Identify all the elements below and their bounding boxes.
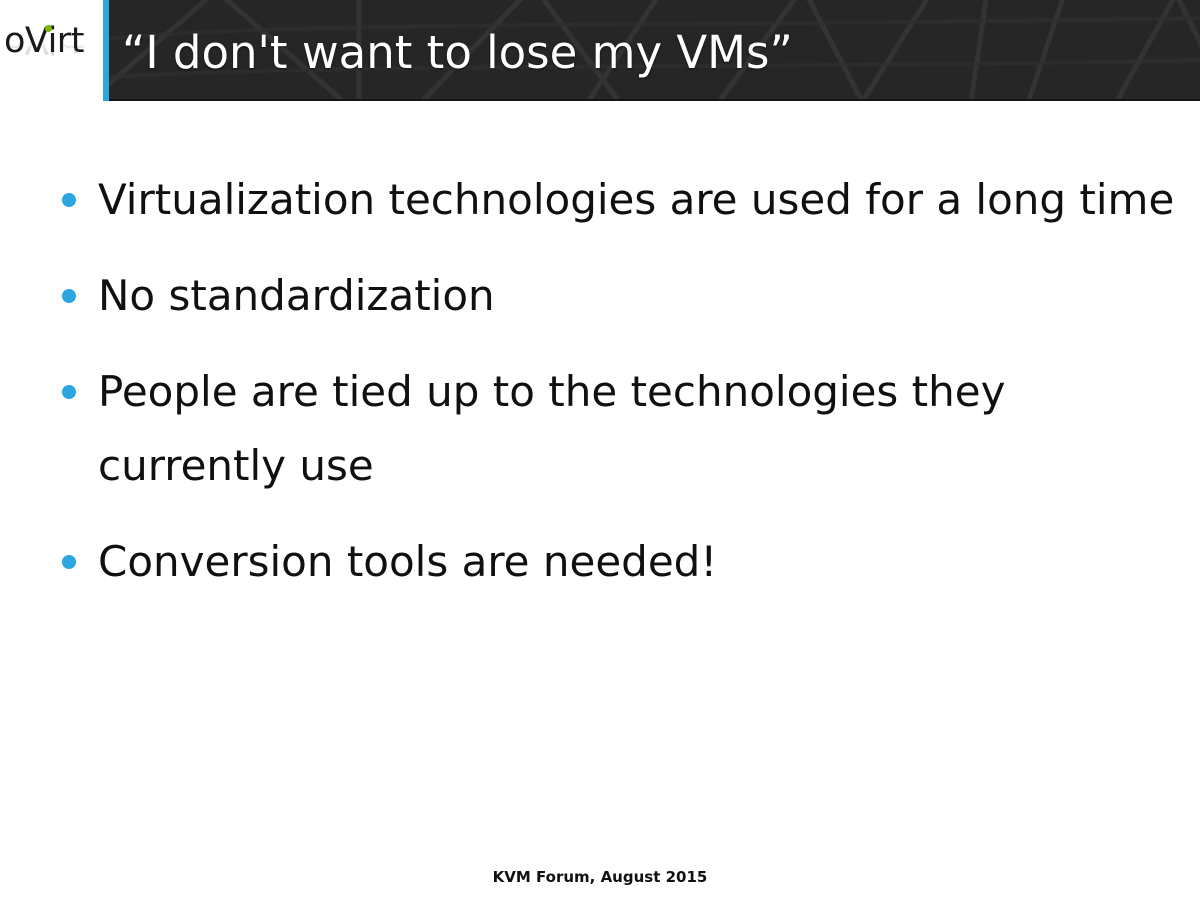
bullet-text: Virtualization technologies are used for… (98, 163, 1182, 237)
bullet-dot-icon (62, 289, 76, 303)
bullet-text: People are tied up to the technologies t… (98, 355, 1182, 503)
bullet-text: No standardization (98, 259, 1182, 333)
bullet-item: No standardization (52, 259, 1182, 333)
bullet-list: Virtualization technologies are used for… (52, 163, 1182, 621)
logo-mark: oVirt (4, 21, 100, 67)
bullet-dot-icon (62, 555, 76, 569)
bullet-item: Virtualization technologies are used for… (52, 163, 1182, 237)
ovirt-logo: oVirt oVirt (0, 0, 103, 101)
bullet-text: Conversion tools are needed! (98, 525, 1182, 599)
bullet-item: People are tied up to the technologies t… (52, 355, 1182, 503)
logo-wordmark: oVirt (4, 21, 100, 61)
slide-content: Virtualization technologies are used for… (0, 101, 1200, 781)
bullet-item: Conversion tools are needed! (52, 525, 1182, 599)
bullet-dot-icon (62, 193, 76, 207)
slide-header: oVirt oVirt (0, 0, 1200, 101)
bullet-dot-icon (62, 385, 76, 399)
slide-title: “I don't want to lose my VMs” (122, 20, 1182, 86)
logo-green-dot-icon (45, 25, 52, 32)
slide-footer: KVM Forum, August 2015 (0, 862, 1200, 892)
presentation-slide: oVirt oVirt (0, 0, 1200, 901)
